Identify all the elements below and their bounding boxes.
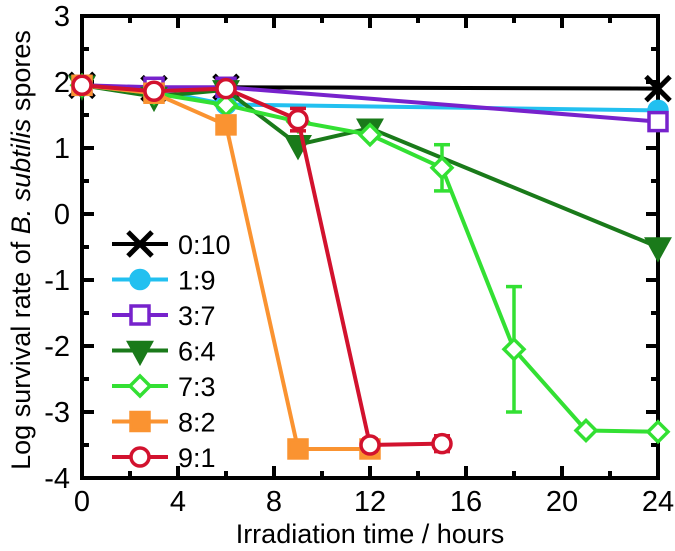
legend-label: 7:3 <box>178 372 216 402</box>
data-point-marker <box>649 113 667 131</box>
x-tick-label: 24 <box>642 486 674 518</box>
data-point-marker <box>433 435 451 453</box>
x-tick-label: 4 <box>170 486 186 518</box>
x-axis-title: Irradiation time / hours <box>236 519 505 549</box>
data-point-marker <box>131 306 149 324</box>
y-axis-title: Log survival rate of B. subtilis spores <box>6 30 36 470</box>
x-tick-label: 8 <box>266 486 282 518</box>
data-point-marker <box>289 111 307 129</box>
y-tick-label: 0 <box>54 199 70 231</box>
legend-label: 0:10 <box>178 230 231 260</box>
chart-background <box>0 0 675 551</box>
x-tick-label: 16 <box>450 486 482 518</box>
x-tick-label: 12 <box>354 486 386 518</box>
x-tick-label: 0 <box>74 486 90 518</box>
chart-figure: Log survival rate of B. subtilis spores … <box>0 0 675 551</box>
y-tick-label: -2 <box>44 331 70 363</box>
legend-label: 9:1 <box>178 443 216 473</box>
data-point-marker <box>131 448 149 466</box>
data-point-marker <box>145 82 163 100</box>
line-chart: Log survival rate of B. subtilis spores … <box>0 0 675 551</box>
data-point-marker <box>361 436 379 454</box>
y-tick-label: 1 <box>54 133 70 165</box>
data-point-marker <box>289 440 307 458</box>
y-tick-label: -3 <box>44 397 70 429</box>
y-tick-label: 3 <box>54 1 70 33</box>
x-tick-label: 20 <box>546 486 578 518</box>
y-tick-label: 2 <box>54 67 70 99</box>
legend-label: 8:2 <box>178 408 216 438</box>
y-tick-label: -4 <box>44 463 70 495</box>
legend-label: 6:4 <box>178 337 216 367</box>
data-point-marker <box>217 80 235 98</box>
data-point-marker <box>131 271 149 289</box>
data-point-marker <box>217 116 235 134</box>
data-point-marker <box>131 413 149 431</box>
data-point-marker <box>73 76 91 94</box>
y-tick-label: -1 <box>44 265 70 297</box>
legend-label: 3:7 <box>178 301 216 331</box>
svg-text:Log survival rate of B. subtil: Log survival rate of B. subtilis spores <box>6 30 36 470</box>
legend-label: 1:9 <box>178 266 216 296</box>
